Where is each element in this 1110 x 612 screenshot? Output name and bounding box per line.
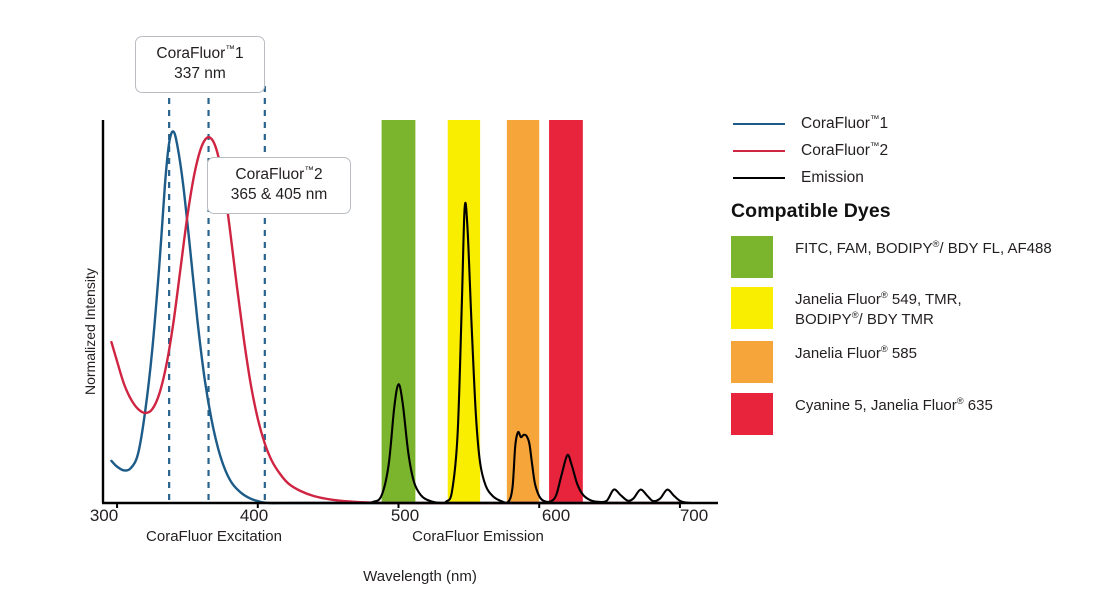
callout-corafluor1-line2: 337 nm	[146, 64, 254, 84]
x-axis-title: Wavelength (nm)	[320, 568, 520, 585]
dye-label: FITC, FAM, BODIPY®/ BDY FL, AF488	[795, 236, 1052, 259]
dye-color-swatch	[731, 393, 773, 435]
dye-band-3	[549, 120, 583, 503]
dye-label: Cyanine 5, Janelia Fluor® 635	[795, 393, 993, 416]
legend-label: CoraFluor™1	[801, 115, 888, 133]
legend-line-swatch	[733, 123, 785, 125]
x-tick-label-700: 700	[672, 506, 716, 526]
x-tick-label-600: 600	[534, 506, 578, 526]
callout-corafluor2-line2: 365 & 405 nm	[218, 185, 340, 205]
dye-color-swatch	[731, 236, 773, 278]
callout-corafluor1-line1: CoraFluor™1	[156, 45, 243, 62]
dye-label: Janelia Fluor® 585	[795, 341, 917, 364]
legend-line-swatch	[733, 150, 785, 152]
emission-region-label: CoraFluor Emission	[392, 528, 564, 545]
dye-color-swatch	[731, 341, 773, 383]
excitation-region-label: CoraFluor Excitation	[128, 528, 300, 545]
dye-entry-yellow: Janelia Fluor® 549, TMR,BODIPY®/ BDY TMR	[731, 287, 962, 330]
callout-corafluor2: CoraFluor™2 365 & 405 nm	[207, 157, 351, 214]
series-legend: CoraFluor™1 CoraFluor™2 Emission	[733, 110, 888, 191]
legend-item: CoraFluor™2	[733, 137, 888, 164]
legend-label: Emission	[801, 169, 864, 187]
dye-label: Janelia Fluor® 549, TMR,BODIPY®/ BDY TMR	[795, 287, 962, 330]
compatible-dyes-title: Compatible Dyes	[731, 200, 891, 223]
y-axis-title: Normalized Intensity	[82, 268, 98, 395]
dye-entry-red: Cyanine 5, Janelia Fluor® 635	[731, 393, 993, 435]
callout-corafluor2-line1: CoraFluor™2	[235, 166, 322, 183]
dye-band-0	[382, 120, 416, 503]
legend-line-swatch	[733, 177, 785, 179]
dye-band-1	[448, 120, 480, 503]
x-tick-label-500: 500	[383, 506, 427, 526]
x-tick-label-300: 300	[82, 506, 126, 526]
legend-item: CoraFluor™1	[733, 110, 888, 137]
callout-corafluor1: CoraFluor™1 337 nm	[135, 36, 265, 93]
dye-color-swatch	[731, 287, 773, 329]
dye-band-2	[507, 120, 539, 503]
x-tick-label-400: 400	[232, 506, 276, 526]
legend-label: CoraFluor™2	[801, 142, 888, 160]
legend-item: Emission	[733, 164, 888, 191]
dye-entry-green: FITC, FAM, BODIPY®/ BDY FL, AF488	[731, 236, 1052, 278]
dye-entry-orange: Janelia Fluor® 585	[731, 341, 917, 383]
chart-figure: Normalized Intensity 300 400 500 600 700…	[0, 0, 1110, 612]
